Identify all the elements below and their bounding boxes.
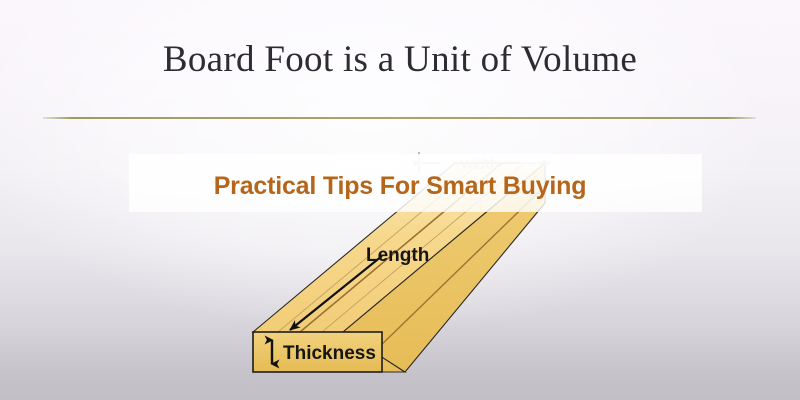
length-label: Length (366, 245, 429, 266)
subtitle-text: Practical Tips For Smart Buying (0, 172, 800, 201)
slide-canvas: Thickness Length (0, 0, 800, 400)
title-divider-rule (43, 117, 756, 119)
page-title: Board Foot is a Unit of Volume (0, 38, 800, 81)
thickness-label: Thickness (283, 343, 376, 364)
